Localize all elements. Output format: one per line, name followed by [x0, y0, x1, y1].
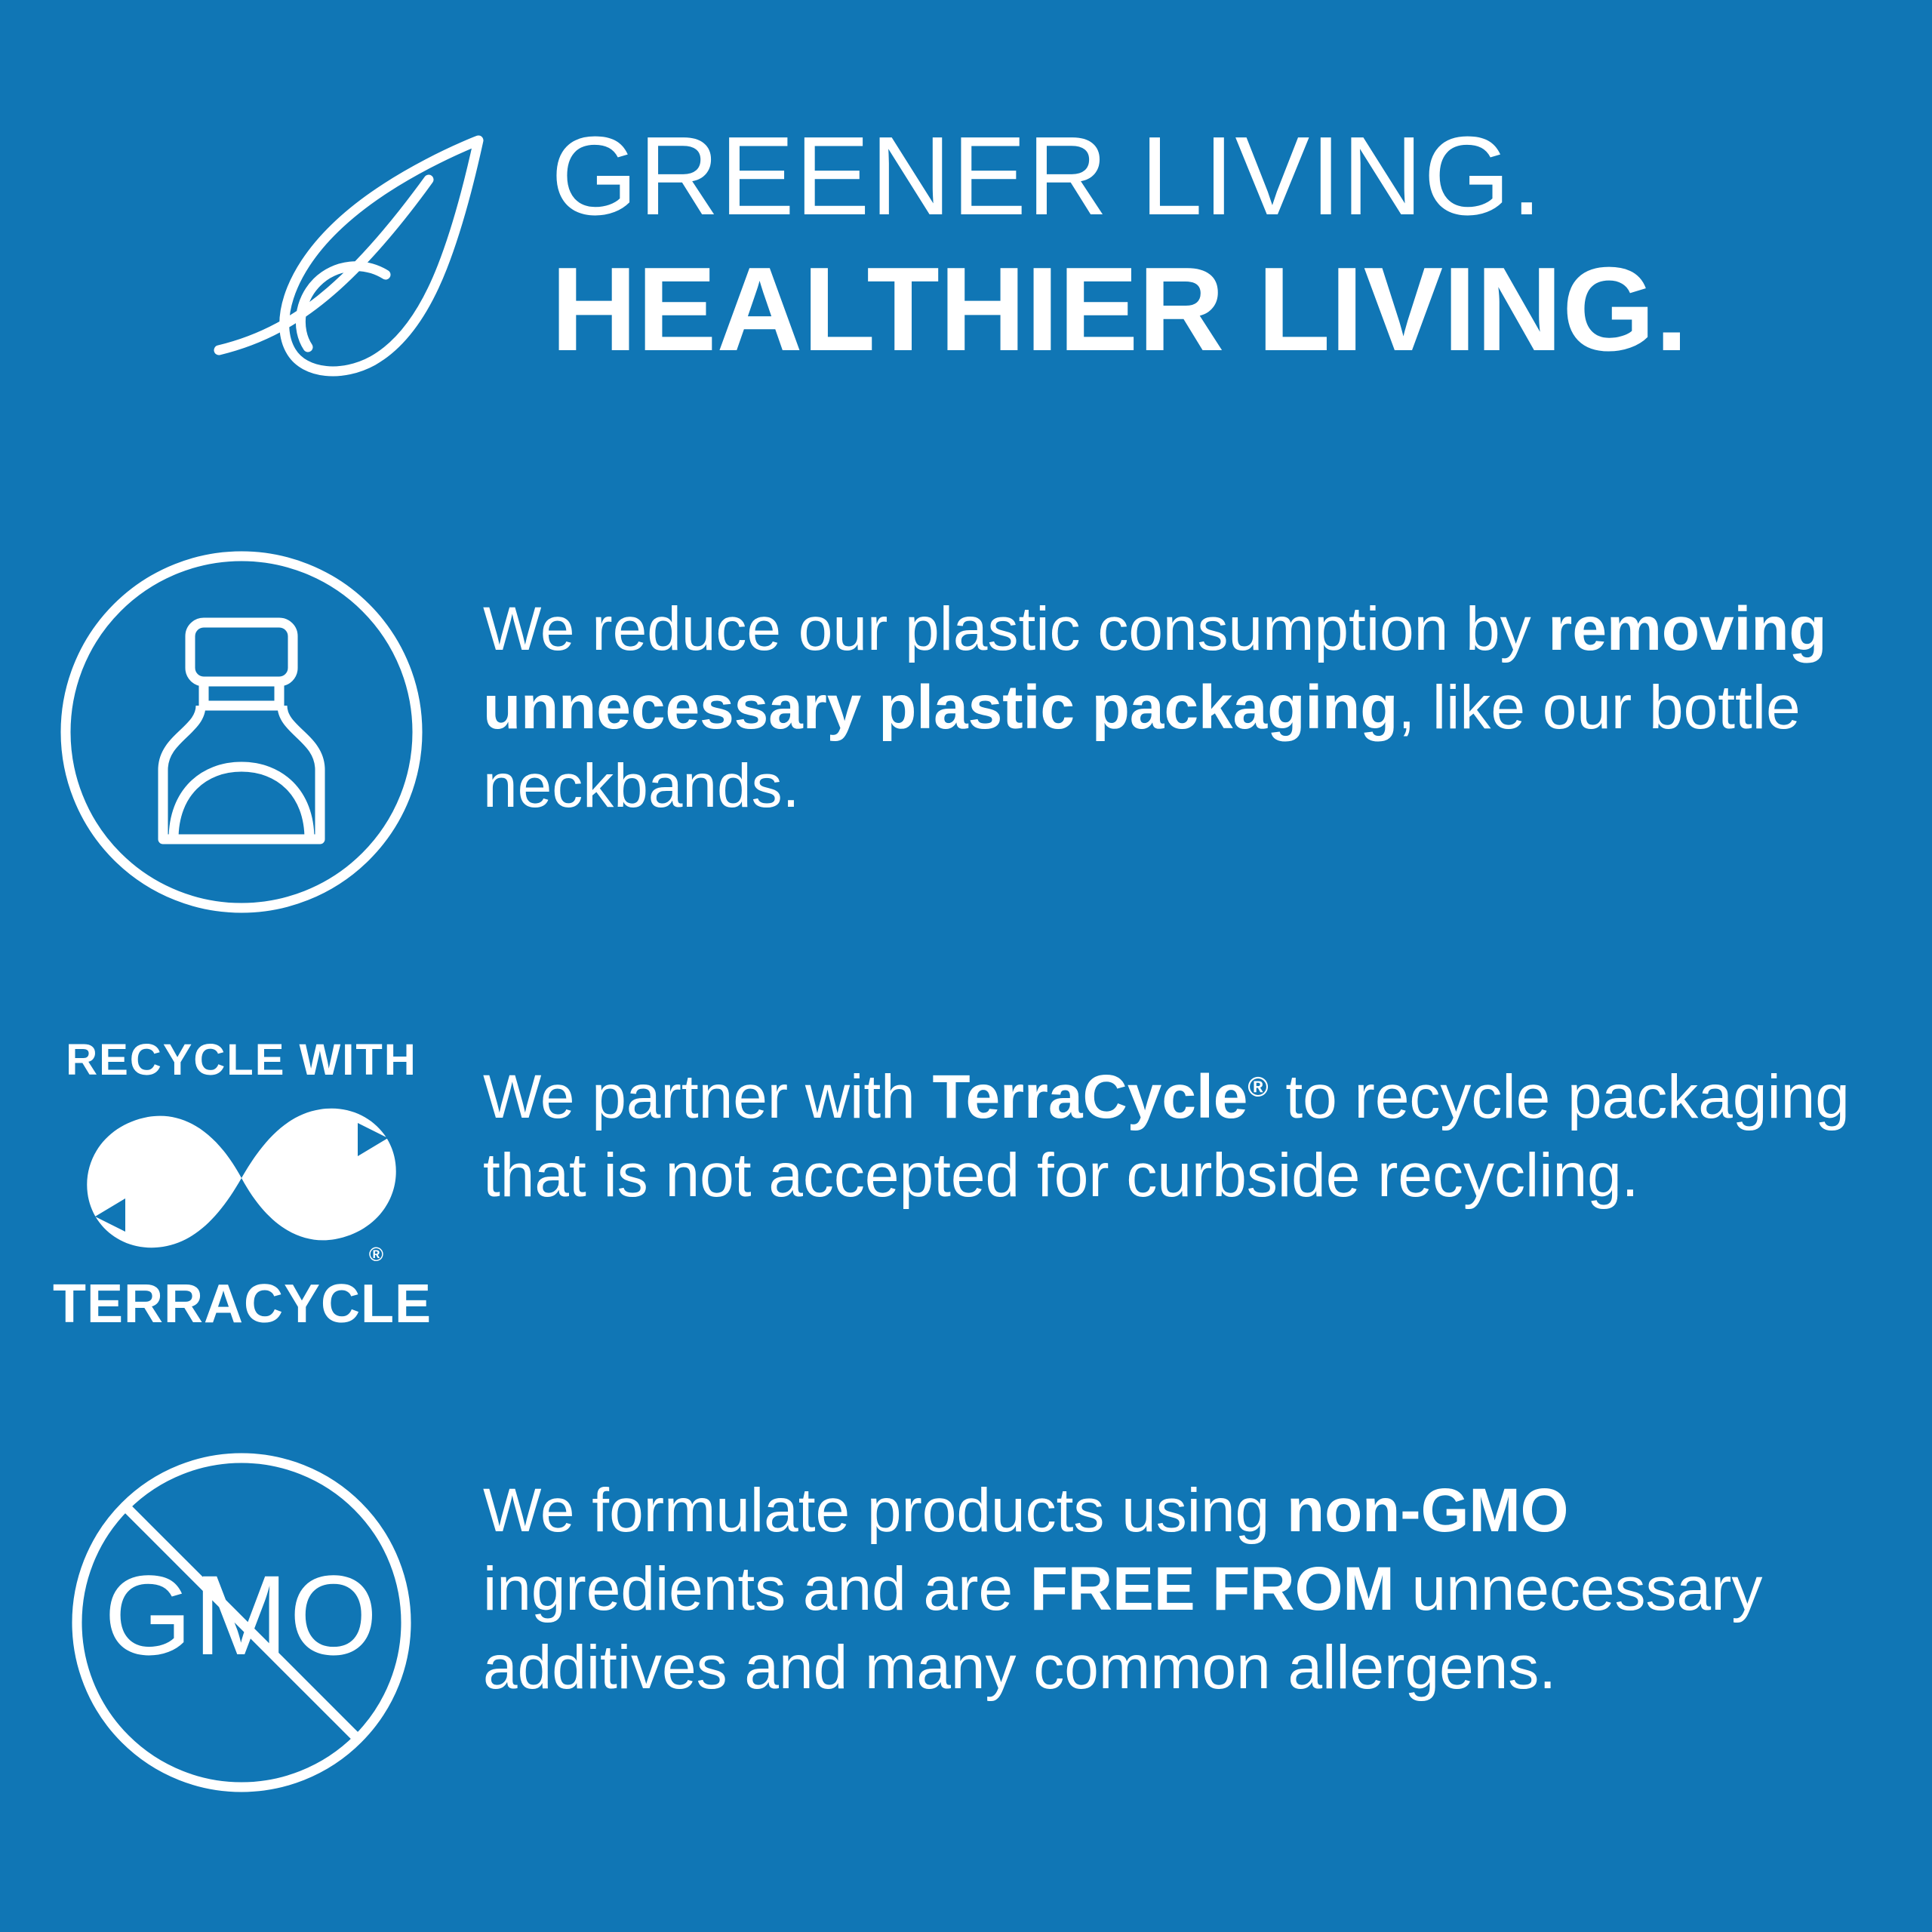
headline-line-2: HEALTHIER LIVING.: [551, 243, 1834, 376]
terracycle-logo-bottom-label: TERRACYCLE: [53, 1275, 430, 1333]
leaf-icon: [202, 134, 519, 406]
terracycle-logo-top-label: RECYCLE WITH: [53, 1037, 430, 1084]
header-text-block: GREENER LIVING. HEALTHIER LIVING.: [551, 113, 1834, 376]
greener-living-infographic: GREENER LIVING. HEALTHIER LIVING. We red…: [0, 0, 1932, 1932]
svg-text:GMO: GMO: [104, 1552, 379, 1678]
feature-row-2-text: We partner with TerraCycle® to recycle p…: [483, 1058, 1864, 1215]
header: GREENER LIVING. HEALTHIER LIVING.: [0, 113, 1932, 430]
feature-row-1-body: We reduce our plastic consumption by rem…: [483, 558, 1932, 826]
headline-line-1: GREENER LIVING.: [551, 113, 1834, 240]
bottle-neckband-circle-icon: [0, 558, 483, 906]
feature-row-3-text: We formulate products using non-GMO ingr…: [483, 1472, 1864, 1707]
feature-row-terracycle: RECYCLE WITH ® TERRACYCLE We partner wit…: [0, 1011, 1932, 1358]
feature-row-3-body: We formulate products using non-GMO ingr…: [483, 1449, 1932, 1707]
feature-row-plastic-reduction: We reduce our plastic consumption by rem…: [0, 558, 1932, 906]
feature-row-non-gmo: GMO We formulate products using non-GMO …: [0, 1449, 1932, 1796]
no-gmo-icon: GMO: [0, 1449, 483, 1796]
feature-row-2-body: We partner with TerraCycle® to recycle p…: [483, 1011, 1932, 1215]
terracycle-logo: RECYCLE WITH ® TERRACYCLE: [0, 1011, 483, 1358]
terracycle-registered-mark: ®: [369, 1243, 383, 1266]
terracycle-infinity-icon: ®: [53, 1084, 430, 1272]
feature-row-1-text: We reduce our plastic consumption by rem…: [483, 590, 1864, 826]
